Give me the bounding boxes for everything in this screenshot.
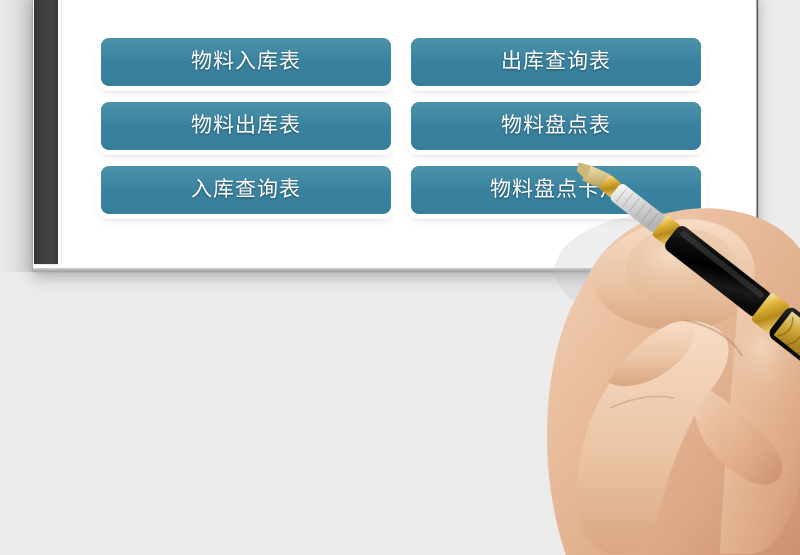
card-spine-bar bbox=[34, 0, 58, 264]
card-right-edge-rule bbox=[756, 0, 758, 265]
card-bottom-edge-rule bbox=[33, 268, 758, 271]
menu-button-material-stocktake-sheet[interactable]: 物料盘点表 bbox=[411, 102, 701, 150]
menu-button-inbound-query-sheet[interactable]: 入库查询表 bbox=[101, 166, 391, 214]
menu-button-material-stocktake-card[interactable]: 物料盘点卡片 bbox=[411, 166, 701, 214]
menu-button-material-outbound-sheet[interactable]: 物料出库表 bbox=[101, 102, 391, 150]
page-backdrop-gradient bbox=[0, 0, 36, 272]
menu-button-outbound-query-sheet[interactable]: 出库查询表 bbox=[411, 38, 701, 86]
main-menu-button-grid: 物料入库表 出库查询表 物料出库表 物料盘点表 入库查询表 物料盘点卡片 bbox=[101, 38, 701, 214]
menu-button-material-inbound-sheet[interactable]: 物料入库表 bbox=[101, 38, 391, 86]
card-spine-highlight bbox=[58, 0, 62, 264]
screenshot-root: 物料入库表 出库查询表 物料出库表 物料盘点表 入库查询表 物料盘点卡片 bbox=[0, 0, 800, 555]
